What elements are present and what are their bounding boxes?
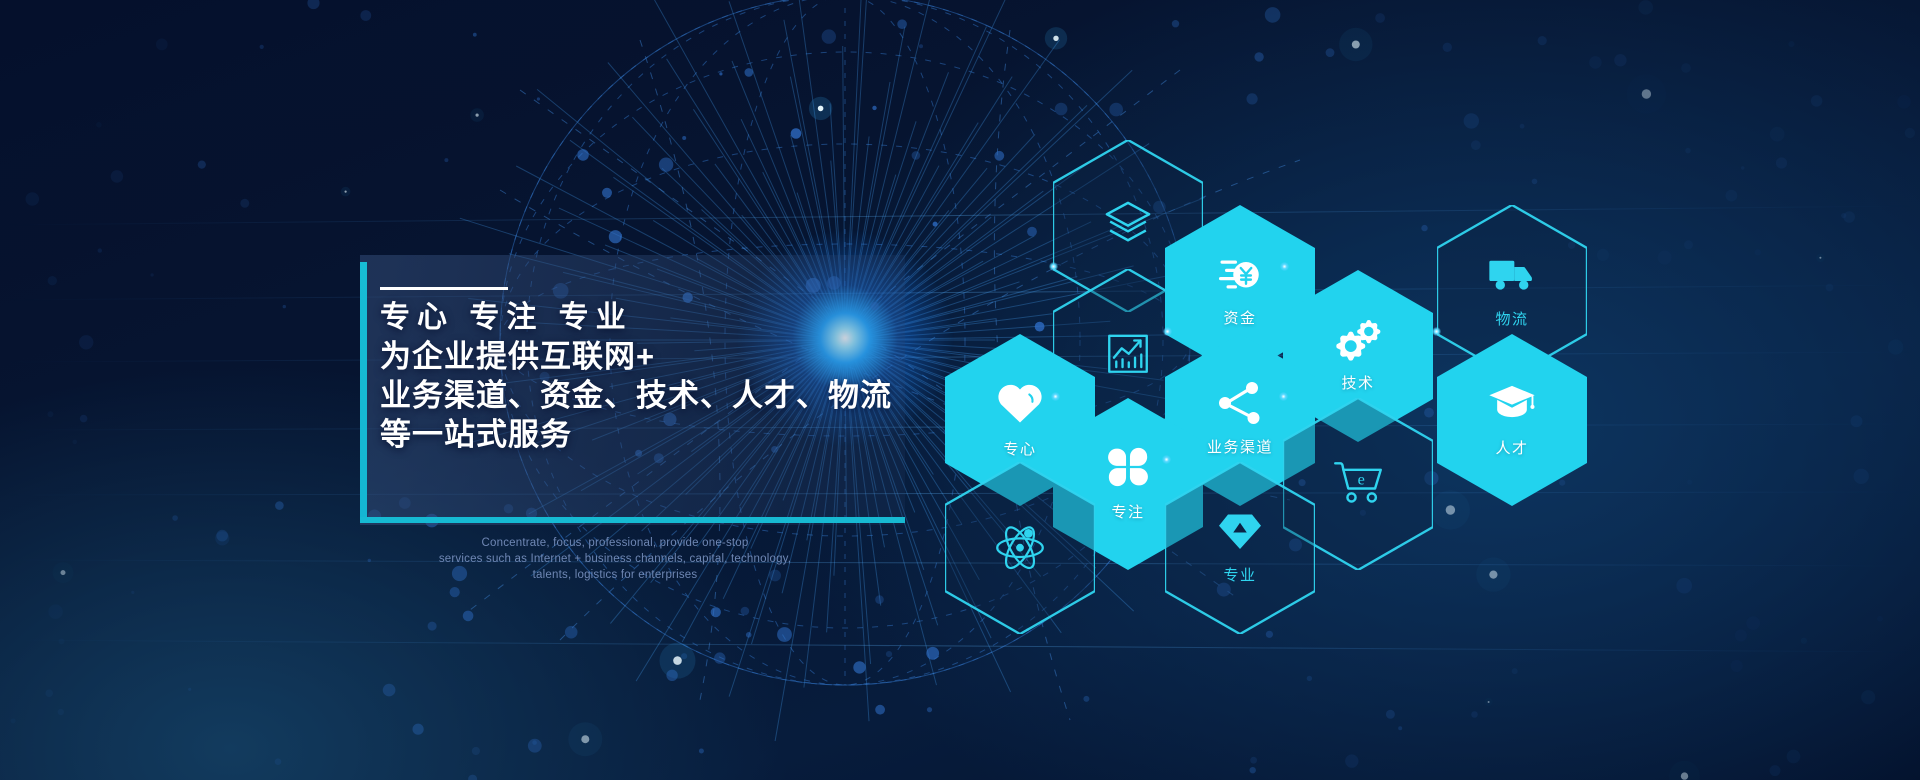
hexagon-zhuanye[interactable]: 专业 xyxy=(1165,462,1315,634)
hexagon-label: 物流 xyxy=(1495,308,1528,329)
hexagon-label: 专心 xyxy=(1003,438,1036,459)
hexagon-content: 物流 xyxy=(1487,249,1537,329)
svg-text:e: e xyxy=(1358,470,1365,488)
truck-icon xyxy=(1487,249,1537,299)
hexagon-content: 资金 xyxy=(1216,250,1264,328)
hex-joint-glow xyxy=(1163,327,1172,336)
layers-icon xyxy=(1102,198,1154,250)
hex-joint-glow xyxy=(1049,262,1058,271)
money-yen-icon xyxy=(1216,250,1264,298)
hexagon-content: 专心 xyxy=(994,377,1046,459)
hex-joint-glow xyxy=(1280,262,1289,271)
hexagon-label: 资金 xyxy=(1223,307,1256,328)
diamond-icon xyxy=(1216,507,1264,555)
clover-icon xyxy=(1103,442,1153,492)
hexagon-content xyxy=(1103,328,1153,378)
share-nodes-icon xyxy=(1216,379,1264,427)
hex-joint-glow xyxy=(1162,455,1171,464)
hexagon-label: 专业 xyxy=(1223,564,1256,585)
chart-growth-icon xyxy=(1103,328,1153,378)
hexagon-label: 人才 xyxy=(1495,437,1528,458)
hex-joint-glow xyxy=(1279,392,1288,401)
hexagon-label: 技术 xyxy=(1341,372,1374,393)
hexagon-cluster: 资金技术物流人才专心业务渠道专注e专业 xyxy=(0,0,1920,780)
hex-joint-glow xyxy=(1051,392,1060,401)
hexagon-content: 人才 xyxy=(1487,378,1537,458)
shopping-cart-e-icon: e xyxy=(1332,456,1384,508)
graduation-cap-icon xyxy=(1487,378,1537,428)
hexagon-rencai[interactable]: 人才 xyxy=(1437,334,1587,506)
hexagon-content: 专注 xyxy=(1103,442,1153,522)
banner-stage: 专心 专注 专业 为企业提供互联网+ 业务渠道、资金、技术、人才、物流 等一站式… xyxy=(0,0,1920,780)
hexagon-label: 专注 xyxy=(1111,501,1144,522)
hexagon-label: 业务渠道 xyxy=(1207,436,1273,457)
gears-icon xyxy=(1335,316,1382,363)
atom-icon xyxy=(993,519,1047,573)
hexagon-content: 专业 xyxy=(1216,507,1264,585)
hexagon-content xyxy=(993,519,1047,573)
hexagon-content: e xyxy=(1332,456,1384,508)
hexagon-atom[interactable] xyxy=(945,462,1095,634)
hex-joint-glow xyxy=(1432,327,1441,336)
heart-icon xyxy=(994,377,1046,429)
hexagon-content: 技术 xyxy=(1335,316,1382,393)
hexagon-content xyxy=(1102,198,1154,250)
hexagon-content: 业务渠道 xyxy=(1207,379,1273,457)
